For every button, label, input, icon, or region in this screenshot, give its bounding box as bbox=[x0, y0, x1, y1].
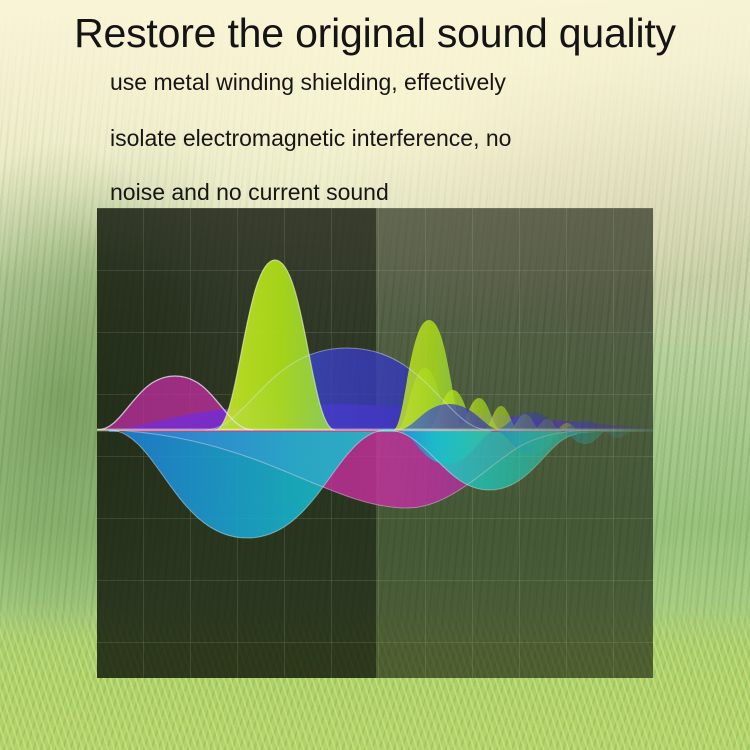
poster-canvas: Restore the original sound quality use m… bbox=[0, 0, 750, 750]
subtitle-line-3: noise and no current sound bbox=[110, 180, 389, 205]
waveform-panel: Sound quality fluctuates before conversi… bbox=[97, 208, 653, 678]
subtitle-line-2: isolate electromagnetic interference, no bbox=[110, 126, 511, 151]
subtitle-line-1: use metal winding shielding, effectively bbox=[110, 70, 506, 95]
sound-waveform-graphic bbox=[97, 208, 653, 678]
page-title: Restore the original sound quality bbox=[0, 12, 750, 55]
